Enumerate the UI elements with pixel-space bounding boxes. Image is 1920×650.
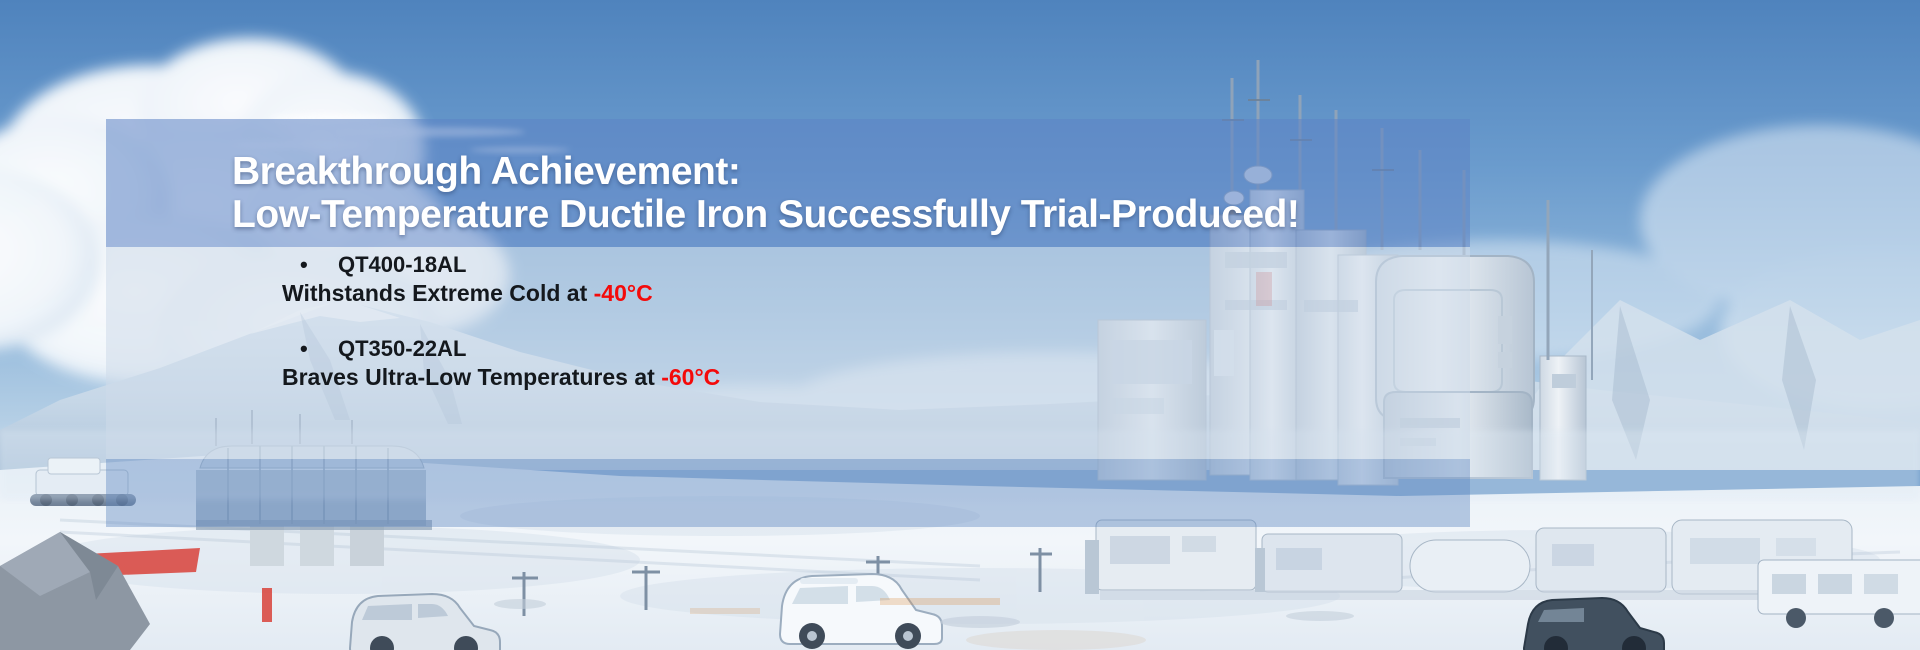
bullet-grade-label: QT400-18AL bbox=[338, 252, 466, 277]
page-title: Breakthrough Achievement: Low-Temperatur… bbox=[232, 152, 1472, 234]
temperature-value: -60°C bbox=[661, 364, 720, 390]
footer-band bbox=[106, 459, 1470, 527]
bullet-claim-text: Braves Ultra-Low Temperatures at bbox=[282, 364, 661, 390]
list-item: •QT350-22AL Braves Ultra-Low Temperature… bbox=[150, 336, 1350, 392]
bullet-claim-row: Withstands Extreme Cold at -40°C bbox=[150, 280, 1350, 308]
banner-root: Breakthrough Achievement: Low-Temperatur… bbox=[0, 0, 1920, 650]
bullet-claim-row: Braves Ultra-Low Temperatures at -60°C bbox=[150, 364, 1350, 392]
bullet-dot-icon: • bbox=[300, 252, 338, 278]
bullet-claim-text: Withstands Extreme Cold at bbox=[282, 280, 594, 306]
bullet-list: •QT400-18AL Withstands Extreme Cold at -… bbox=[150, 252, 1350, 420]
bullet-grade-row: •QT400-18AL bbox=[150, 252, 1350, 278]
bullet-grade-label: QT350-22AL bbox=[338, 336, 466, 361]
temperature-value: -40°C bbox=[594, 280, 653, 306]
bullet-grade-row: •QT350-22AL bbox=[150, 336, 1350, 362]
headline-line-1: Breakthrough Achievement: bbox=[232, 152, 1472, 191]
bullet-dot-icon: • bbox=[300, 336, 338, 362]
list-item: •QT400-18AL Withstands Extreme Cold at -… bbox=[150, 252, 1350, 308]
headline-line-2: Low-Temperature Ductile Iron Successfull… bbox=[232, 195, 1472, 234]
